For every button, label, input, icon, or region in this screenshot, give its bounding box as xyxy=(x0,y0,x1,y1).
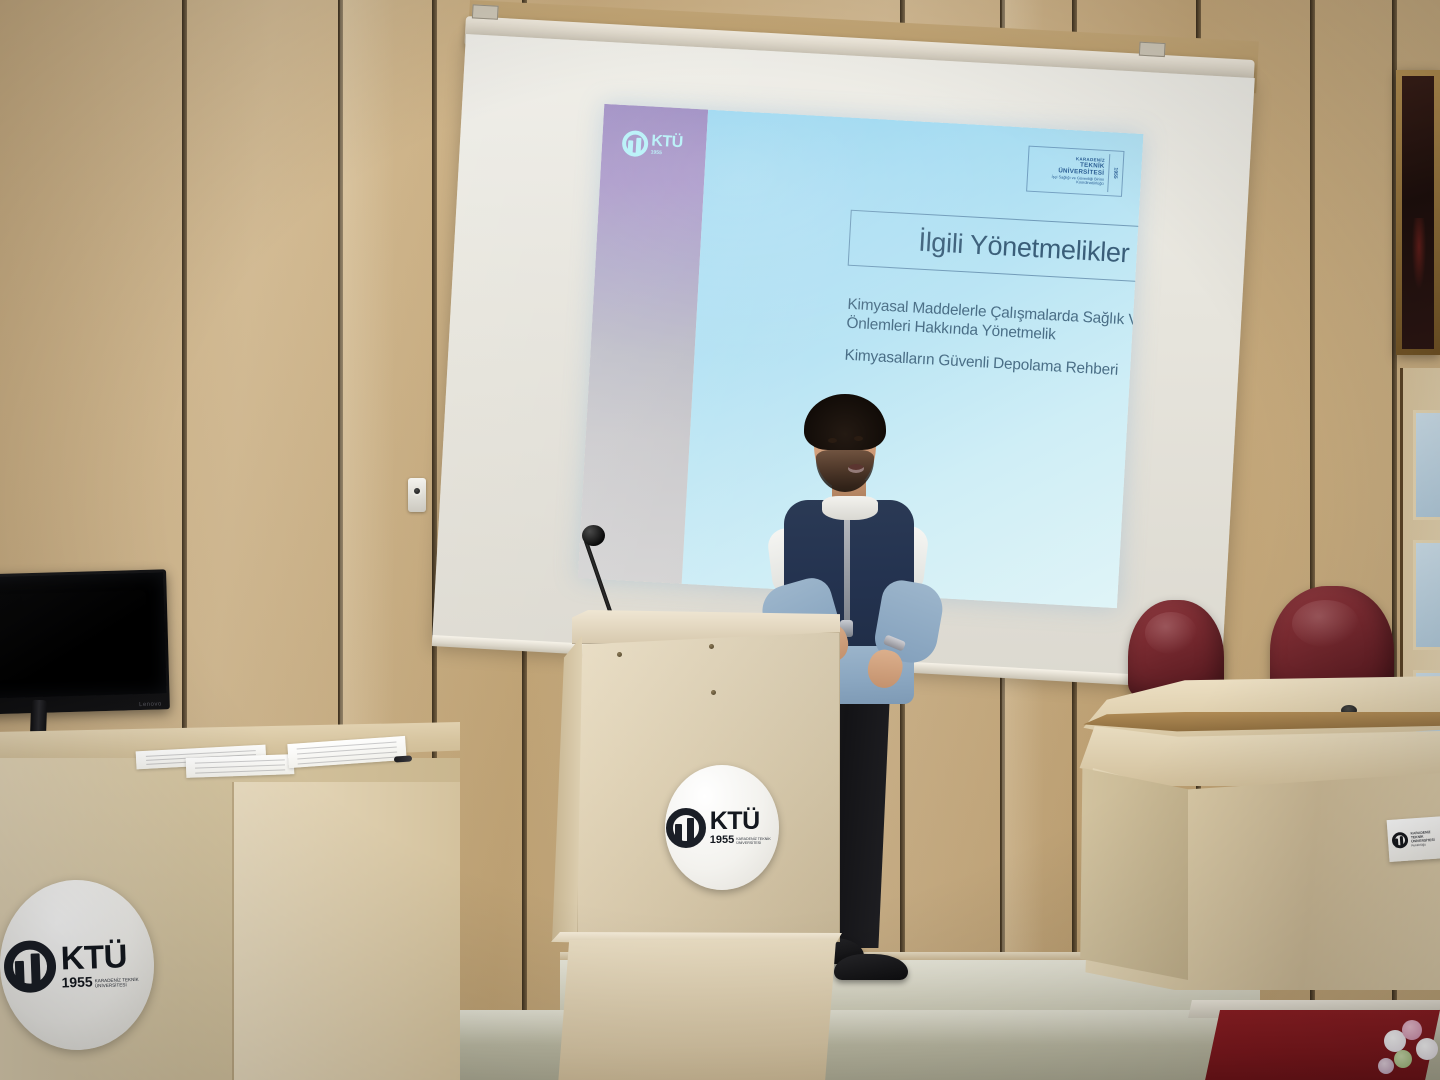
presenter-zipper xyxy=(844,510,850,626)
screen-bracket xyxy=(1139,42,1166,57)
flower-bouquet xyxy=(1378,1018,1440,1080)
ktu-university: KARADENİZ TEKNİK ÜNİVERSİTESİ xyxy=(95,976,151,988)
ktu-year: 1955 xyxy=(710,835,734,846)
slide-title-box: İlgili Yönetmelikler xyxy=(848,210,1144,285)
microphone-head[interactable] xyxy=(582,525,605,546)
ktu-circle-mark xyxy=(666,808,706,848)
presenter-mouth xyxy=(848,464,864,473)
framed-painting xyxy=(1396,70,1440,355)
ktu-circle-mark xyxy=(1392,832,1409,849)
slide-bullet-item: Kimyasal Maddelerle Çalışmalarda Sağlık … xyxy=(846,296,1144,354)
right-desk-plaque-text: KARADENİZ TEKNİK ÜNİVERSİTESİ Rektörlüğü xyxy=(1410,829,1440,848)
ktu-university: KARADENİZ TEKNİK ÜNİVERSİTESİ xyxy=(736,838,778,846)
screenshot-root: KTÜ 1955 KARADENİZ TEKNİK ÜNİVERSİTESİ İ… xyxy=(0,0,1440,1080)
ktu-circle-mark xyxy=(621,130,648,157)
lectern-side-bevel xyxy=(552,626,582,942)
ktu-wordmark: KTÜ 1955 KARADENİZ TEKNİK ÜNİVERSİTESİ xyxy=(710,809,778,846)
computer-monitor[interactable]: Lenovo xyxy=(0,569,170,714)
slide-ktu-logo: KTÜ 1955 xyxy=(621,130,683,159)
slide-ktu-year: 1955 xyxy=(651,150,683,157)
panel-table-side xyxy=(1078,768,1188,980)
slide-bullet-list: Kimyasal Maddelerle Çalışmalarda Sağlık … xyxy=(843,296,1143,399)
switch-dot xyxy=(412,486,422,496)
paper-sheet[interactable] xyxy=(186,754,295,778)
monitor-screen xyxy=(0,572,166,698)
ktu-text: KTÜ xyxy=(60,938,150,974)
slide-corner-logo-text: KARADENİZ TEKNİK ÜNİVERSİTESİ İşçi Sağlı… xyxy=(1032,155,1109,187)
presenter-eye xyxy=(828,438,837,443)
monitor-brand-label: Lenovo xyxy=(139,701,162,708)
screen-bracket xyxy=(472,4,499,19)
lectern-ktu-plaque: KTÜ 1955 KARADENİZ TEKNİK ÜNİVERSİTESİ xyxy=(665,765,779,890)
slide-ktu-wordmark: KTÜ 1955 xyxy=(651,134,684,158)
ktu-logo: KTÜ 1955 KARADENİZ TEKNİK ÜNİVERSİTESİ xyxy=(3,936,151,993)
ktu-wordmark: KTÜ 1955 KARADENİZ TEKNİK ÜNİVERSİTESİ xyxy=(60,938,151,989)
chair-highlight xyxy=(1145,612,1197,654)
lectern-base xyxy=(546,940,836,1080)
control-desk-front-panel xyxy=(232,782,460,1080)
corner-year: 1955 xyxy=(1107,154,1119,192)
right-desk-ktu-plaque: KARADENİZ TEKNİK ÜNİVERSİTESİ Rektörlüğü xyxy=(1387,816,1440,862)
ktu-logo: KTÜ 1955 KARADENİZ TEKNİK ÜNİVERSİTESİ xyxy=(666,808,778,848)
wall-light-switch[interactable] xyxy=(408,478,426,512)
chair-highlight xyxy=(1292,600,1359,647)
ktu-circle-mark xyxy=(3,940,57,994)
presenter-eye xyxy=(854,436,863,441)
presenter-hair xyxy=(804,394,886,450)
ktu-year: 1955 xyxy=(61,974,93,989)
presenter-collar xyxy=(822,496,878,520)
door-glass-panel xyxy=(1413,540,1440,650)
slide-ktu-text: KTÜ xyxy=(651,134,683,152)
painting-figure xyxy=(1412,218,1426,289)
slide-title: İlgili Yönetmelikler xyxy=(918,226,1131,269)
slide-bullet-item: Kimyasalların Güvenli Depolama Rehberi xyxy=(844,346,1143,385)
pen[interactable] xyxy=(394,755,412,762)
slide-corner-logo: KARADENİZ TEKNİK ÜNİVERSİTESİ İşçi Sağlı… xyxy=(1026,146,1124,197)
ktu-text: KTÜ xyxy=(710,809,778,834)
door-glass-panel xyxy=(1413,410,1440,520)
speaker-lectern: KTÜ 1955 KARADENİZ TEKNİK ÜNİVERSİTESİ xyxy=(520,610,860,1080)
